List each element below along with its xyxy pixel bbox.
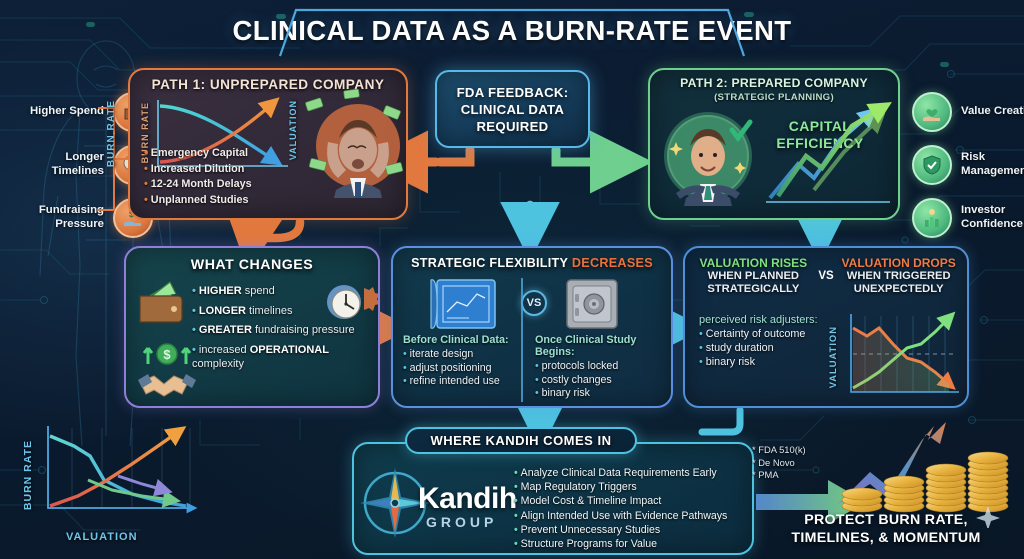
- heart-in-hand-icon: [912, 92, 952, 132]
- list-item: Map Regulatory Triggers: [514, 480, 762, 494]
- what-changes-heading: WHAT CHANGES: [126, 257, 378, 273]
- fda-feedback-text: FDA FEEDBACK: CLINICAL DATA REQUIRED: [457, 84, 569, 135]
- list-item: costly changes: [535, 374, 671, 388]
- pathway-item: * PMA: [752, 469, 806, 482]
- list-item: Certainty of outcome: [699, 327, 825, 341]
- strategic-vs-badge: VS: [521, 290, 547, 316]
- sidebar-item-label: Investor Confidence: [961, 204, 1024, 231]
- sidebar-item-label: Fundraising Pressure: [20, 204, 104, 231]
- sidebar-item-investor-confidence[interactable]: Investor Confidence: [912, 198, 1024, 238]
- path2-panel[interactable]: PATH 2: PREPARED COMPANY (STRATEGIC PLAN…: [648, 68, 900, 220]
- valuation-chart-axis-label: VALUATION: [827, 326, 838, 388]
- list-item: binary risk: [535, 387, 671, 401]
- svg-text:$: $: [163, 347, 171, 362]
- sidebar-item-risk-management[interactable]: Risk Management: [912, 145, 1024, 185]
- bottom-left-y-axis-label: BURN RATE: [22, 440, 34, 510]
- sidebar-item-value-creation[interactable]: Value Creation: [912, 92, 1024, 132]
- bar-chart-person-icon: [912, 198, 952, 238]
- list-item: 12-24 Month Delays: [144, 177, 304, 193]
- fda-line-2: CLINICAL DATA: [457, 101, 569, 118]
- valuation-drops-sub: WHEN TRIGGERED UNEXPECTEDLY: [840, 270, 958, 297]
- strategic-flexibility-heading: STRATEGIC FLEXIBILITY DECREASES: [393, 256, 671, 270]
- strategic-right-column: Once Clinical Study Begins: protocols lo…: [535, 334, 671, 401]
- list-item: Increased Dilution: [144, 162, 304, 178]
- list-item: Model Cost & Timeline Impact: [514, 494, 762, 508]
- kandih-logo-name: Kandih: [418, 482, 517, 516]
- infographic-canvas: CLINICAL DATA AS A BURN-RATE EVENT Highe…: [0, 0, 1024, 559]
- list-item: Emergency Capital: [144, 146, 304, 162]
- bottom-left-chart: [12, 424, 242, 534]
- bullet-strong: LONGER: [199, 305, 246, 317]
- pathway-item: * De Novo: [752, 457, 806, 470]
- path1-bullet-list: Emergency Capital Increased Dilution 12-…: [144, 146, 304, 208]
- fda-feedback-box[interactable]: FDA FEEDBACK: CLINICAL DATA REQUIRED: [435, 70, 590, 148]
- valuation-crossover-chart: [841, 310, 963, 402]
- list-item: Structure Programs for Value: [514, 537, 762, 551]
- wallet-money-icon: [136, 280, 190, 326]
- kandih-bullet-list: Analyze Clinical Data Requirements Early…: [514, 466, 762, 551]
- kandih-tab-label: WHERE KANDIH COMES IN: [431, 433, 612, 448]
- bullet-strong: GREATER: [199, 324, 252, 336]
- kandih-tab[interactable]: WHERE KANDIH COMES IN: [405, 427, 637, 454]
- list-item: iterate design: [403, 348, 531, 362]
- heading-main: STRATEGIC FLEXIBILITY: [411, 256, 568, 270]
- path2-heading: PATH 2: PREPARED COMPANY: [650, 76, 898, 90]
- valuation-drops-title: VALUATION DROPS: [840, 256, 958, 270]
- valuation-rises-title: VALUATION RISES: [694, 256, 812, 270]
- list-item: study duration: [699, 341, 825, 355]
- confident-person-icon: [656, 100, 760, 206]
- valuation-vs-label: VS: [818, 270, 833, 282]
- title-frame: [262, 6, 762, 58]
- list-item: refine intended use: [403, 375, 531, 389]
- protect-line-1: PROTECT BURN RATE,: [750, 512, 1022, 530]
- bullet-strong: OPERATIONAL: [250, 344, 329, 356]
- blueprint-icon: [429, 276, 499, 332]
- regulatory-pathways-note: * FDA 510(k) * De Novo * PMA: [752, 444, 806, 482]
- bullet-rest: spend: [242, 285, 275, 297]
- protect-tagline: PROTECT BURN RATE, TIMELINES, & MOMENTUM: [750, 512, 1022, 547]
- list-item: LONGER timelines: [192, 304, 380, 318]
- list-item: increased OPERATIONAL complexity: [192, 343, 380, 371]
- sidebar-item-label: Risk Management: [961, 151, 1024, 178]
- what-changes-panel[interactable]: WHAT CHANGES $ HIGHER spend: [124, 246, 380, 408]
- list-item: Align Intended Use with Evidence Pathway…: [514, 509, 762, 523]
- strategic-flexibility-panel[interactable]: STRATEGIC FLEXIBILITY DECREASES VS Befor…: [391, 246, 673, 408]
- list-item: adjust positioning: [403, 362, 531, 376]
- safe-vault-icon: [561, 276, 623, 332]
- valuation-panel[interactable]: VALUATION RISES WHEN PLANNED STRATEGICAL…: [683, 246, 969, 408]
- kandih-logo-sub: GROUP: [426, 514, 497, 530]
- fda-line-3: REQUIRED: [457, 118, 569, 135]
- path1-panel[interactable]: PATH 1: UNPREPARED COMPANY BURN RATE VAL…: [128, 68, 408, 220]
- list-item: HIGHER spend: [192, 284, 380, 298]
- bullet-strong: HIGHER: [199, 285, 242, 297]
- left-axis-label: BURN RATE: [106, 100, 117, 167]
- fda-line-1: FDA FEEDBACK:: [457, 84, 569, 101]
- risk-adjusters-lead: perceived risk adjusters:: [699, 314, 825, 327]
- protect-line-2: TIMELINES, & MOMENTUM: [750, 530, 1022, 548]
- shield-check-icon: [912, 145, 952, 185]
- list-item: Unplanned Studies: [144, 193, 304, 209]
- sidebar-item-label: Higher Spend: [20, 105, 104, 119]
- list-item: binary risk: [699, 355, 825, 369]
- list-item: GREATER fundraising pressure: [192, 323, 380, 337]
- path2-growth-chart: [760, 102, 896, 212]
- strategic-left-column: Before Clinical Data: iterate design adj…: [403, 334, 531, 389]
- column-title: Before Clinical Data:: [403, 334, 531, 346]
- kandih-panel[interactable]: Kandih GROUP Analyze Clinical Data Requi…: [352, 442, 754, 555]
- title-banner: CLINICAL DATA AS A BURN-RATE EVENT: [268, 6, 756, 56]
- valuation-rises-block: VALUATION RISES WHEN PLANNED STRATEGICAL…: [694, 256, 812, 297]
- dollar-arrows-handshake-icon: $: [136, 340, 198, 402]
- bullet-rest-2: complexity: [192, 358, 244, 370]
- risk-adjusters-block: perceived risk adjusters: Certainty of o…: [699, 314, 825, 369]
- valuation-headings: VALUATION RISES WHEN PLANNED STRATEGICAL…: [685, 256, 967, 297]
- valuation-rises-sub: WHEN PLANNED STRATEGICALLY: [694, 270, 812, 297]
- bullet-rest: increased: [199, 344, 250, 356]
- sidebar-item-label: Value Creation: [961, 105, 1024, 119]
- bullet-rest: timelines: [246, 305, 292, 317]
- bullet-rest: fundraising pressure: [252, 324, 355, 336]
- pathway-item: * FDA 510(k): [752, 444, 806, 457]
- stressed-person-icon: [300, 86, 406, 198]
- bottom-left-x-axis-label: VALUATION: [66, 531, 138, 543]
- sidebar-item-label: Longer Timelines: [20, 151, 104, 178]
- heading-accent: DECREASES: [572, 256, 653, 270]
- list-item: Prevent Unnecessary Studies: [514, 523, 762, 537]
- list-item: protocols locked: [535, 360, 671, 374]
- list-item: Analyze Clinical Data Requirements Early: [514, 466, 762, 480]
- valuation-drops-block: VALUATION DROPS WHEN TRIGGERED UNEXPECTE…: [840, 256, 958, 297]
- column-title: Once Clinical Study Begins:: [535, 334, 671, 358]
- what-changes-list: HIGHER spend LONGER timelines GREATER fu…: [192, 284, 380, 376]
